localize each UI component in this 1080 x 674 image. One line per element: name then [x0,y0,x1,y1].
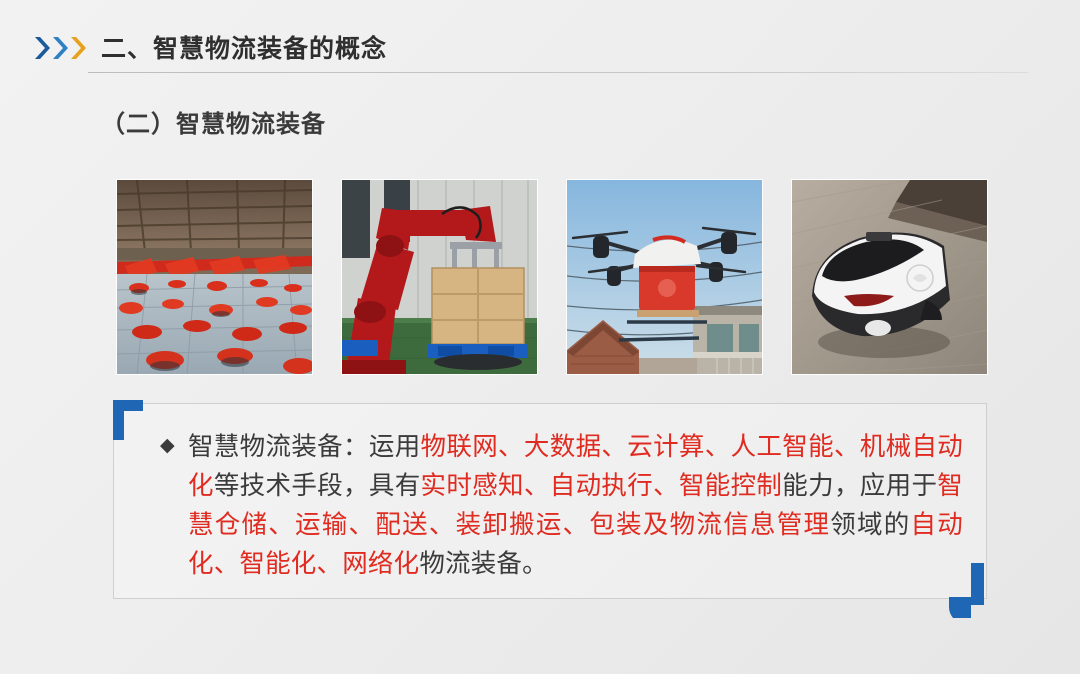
chevron-right-icon-1 [34,35,51,61]
photo-autonomous-delivery-vehicle [792,180,987,374]
header-divider [88,72,1028,73]
photo-strip [117,180,987,374]
section-subtitle: （二）智慧物流装备 [101,104,326,139]
page-title: 二、智慧物流装备的概念 [101,29,387,65]
body-seg-4: 能力，应用于 [782,472,937,500]
photo-agv-warehouse-robots [117,180,312,374]
body-seg-2: 等技术手段，具有 [214,472,421,500]
slide-root: 二、智慧物流装备的概念 （二）智慧物流装备 [0,0,1080,674]
body-seg-3: 实时感知、自动执行、智能控制 [421,472,783,500]
body-seg-0: 智慧物流装备：运用 [188,433,421,461]
chevron-right-icon-3 [70,35,87,61]
body-paragraph: 智慧物流装备：运用物联网、大数据、云计算、人工智能、机械自动化等技术手段，具有实… [188,428,963,584]
bullet-marker: ◆ [160,436,175,455]
chevron-right-icon-2 [52,35,69,61]
body-seg-6: 领域的 [830,511,910,539]
photo-palletizing-robot-arm [342,180,537,374]
photo-delivery-drone [567,180,762,374]
slide-header: 二、智慧物流装备的概念 [0,26,1080,72]
body-seg-8: 物流装备。 [419,550,548,578]
chevron-group [34,35,87,61]
